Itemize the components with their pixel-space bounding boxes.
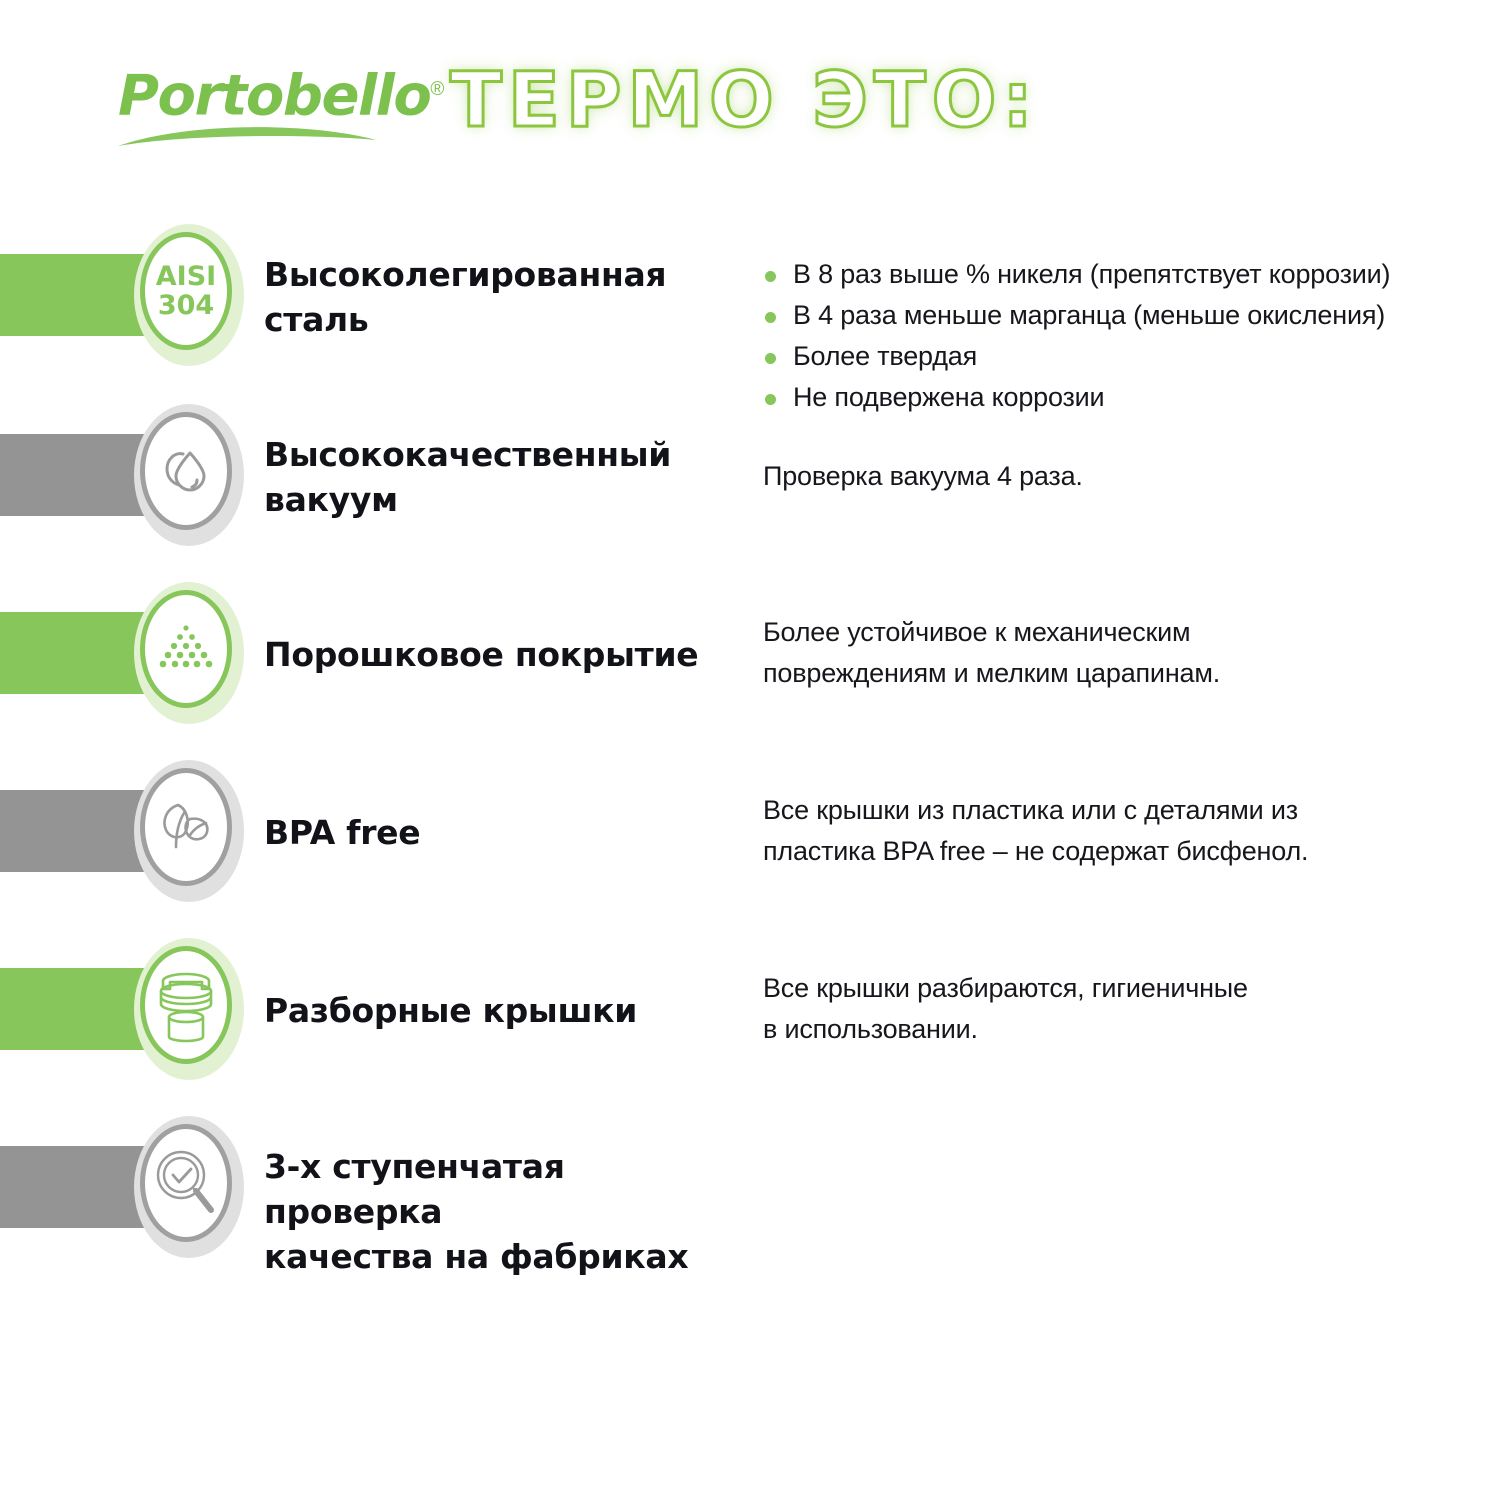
page-title: ТЕРМО ЭТО: <box>450 52 1039 148</box>
magnifier-check-icon <box>134 1116 244 1258</box>
powder-dots-icon <box>134 582 244 724</box>
brand-logo: Portobello® <box>118 58 388 153</box>
feature-detail: Проверка вакуума 4 раза. <box>763 456 1493 497</box>
feature-row-vacuum: Высококачественный вакуум Проверка вакуу… <box>0 392 1500 562</box>
accent-bar <box>0 1146 150 1228</box>
badge-glyph <box>140 768 232 886</box>
accent-bar <box>0 254 150 336</box>
list-item: Более твердая <box>763 336 1493 377</box>
feature-title: BPA free <box>264 810 734 855</box>
feature-title: Разборные крышки <box>264 988 734 1033</box>
detachable-lid-icon <box>134 938 244 1080</box>
leaves-glyph <box>154 795 218 859</box>
leaves-icon <box>134 760 244 902</box>
feature-row-bpa: BPA free Все крышки из пластика или с де… <box>0 748 1500 918</box>
feature-detail: Все крышки из пластика или с деталями из… <box>763 790 1493 872</box>
feature-title: Высоколегированная сталь <box>264 252 734 342</box>
brand-logo-swoosh-icon <box>118 124 376 150</box>
accent-bar <box>0 968 150 1050</box>
accent-bar <box>0 434 150 516</box>
aisi-grade: 304 <box>156 291 216 320</box>
feature-detail: Все крышки разбираются, гигиеничные в ис… <box>763 968 1493 1050</box>
page-header: Portobello® ТЕРМО ЭТО: <box>0 0 1500 200</box>
accent-bar <box>0 612 150 694</box>
feature-detail: Более устойчивое к механическим поврежде… <box>763 612 1493 694</box>
badge-glyph <box>140 412 232 530</box>
registered-trademark-icon: ® <box>430 79 444 100</box>
water-drop-glyph <box>155 440 217 502</box>
list-item: В 8 раз выше % никеля (препятствует корр… <box>763 254 1493 295</box>
brand-logo-text: Portobello® <box>118 58 388 129</box>
aisi-304-badge-icon: AISI 304 <box>134 224 244 366</box>
list-item: В 4 раза меньше марганца (меньше окислен… <box>763 295 1493 336</box>
accent-bar <box>0 790 150 872</box>
water-drop-icon <box>134 404 244 546</box>
feature-title: Порошковое покрытие <box>264 632 734 677</box>
feature-title: Высококачественный вакуум <box>264 432 734 522</box>
feature-row-quality-check: 3-х ступенчатая проверка качества на фаб… <box>0 1104 1500 1274</box>
feature-title: 3-х ступенчатая проверка качества на фаб… <box>264 1144 734 1279</box>
magnifier-check-glyph <box>153 1148 219 1218</box>
badge-glyph: AISI 304 <box>140 232 232 350</box>
detachable-lid-glyph <box>153 967 219 1043</box>
feature-row-powder: Порошковое покрытие Более устойчивое к м… <box>0 570 1500 740</box>
badge-glyph <box>140 590 232 708</box>
feature-row-steel: AISI 304 Высоколегированная сталь В 8 ра… <box>0 212 1500 382</box>
brand-logo-wordmark: Portobello <box>118 64 430 129</box>
badge-glyph <box>140 946 232 1064</box>
powder-dots-glyph <box>155 620 217 678</box>
badge-glyph <box>140 1124 232 1242</box>
aisi-label: AISI <box>156 262 216 291</box>
feature-row-lids: Разборные крышки Все крышки разбираются,… <box>0 926 1500 1096</box>
hero-title-wrap: ТЕРМО ЭТО: <box>450 52 1039 152</box>
